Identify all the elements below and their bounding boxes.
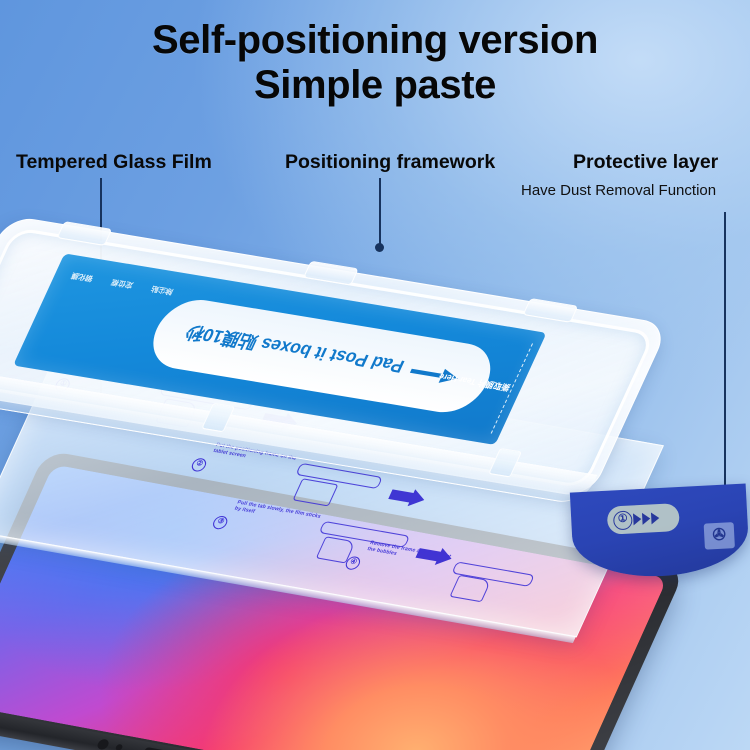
step-text-4: Remove the frame and press out the bubbl…	[366, 540, 456, 567]
dust-tab-number: ①	[613, 510, 633, 530]
callout-label-protective-layer: Protective layer	[573, 151, 718, 174]
step-text-3: Pull the tab slowly, the film sticks by …	[233, 499, 323, 526]
callout-subtitle-protective-layer: Have Dust Removal Function	[521, 182, 716, 199]
step-number-3: ③	[211, 515, 230, 530]
headline-line-1: Self-positioning version	[0, 18, 750, 63]
callout-label-tempered-glass-film: Tempered Glass Film	[16, 151, 212, 174]
headline-line-2: Simple paste	[0, 63, 750, 108]
tray-pill-text: Pad Post it boxes 贴膜10秒	[180, 321, 408, 382]
leader-dot-positioning-framework	[375, 243, 384, 252]
speaker-hole-icon	[96, 738, 111, 750]
tray-micro-text-1: 钢化膜	[70, 270, 95, 282]
tray-tear-text: 撕取膜片 Tear Here	[437, 371, 513, 394]
tray-micro-text-3: 除尘贴	[150, 283, 175, 295]
dust-tab-badge: ①	[607, 503, 680, 535]
chevron-right-icon	[633, 513, 642, 525]
chevron-right-icon	[651, 512, 660, 524]
headline-block: Self-positioning version Simple paste	[0, 18, 750, 108]
tray-micro-text-2: 定位框	[110, 277, 135, 289]
leader-line-positioning-framework	[379, 178, 381, 247]
callout-label-positioning-framework: Positioning framework	[285, 151, 495, 174]
leader-line-protective-layer	[724, 212, 726, 505]
dust-tab-logo-icon: ✇	[704, 522, 735, 550]
step-artwork-hand	[449, 575, 491, 603]
mic-hole-icon	[115, 744, 124, 750]
chevron-right-icon	[642, 512, 651, 524]
product-image-canvas: Self-positioning version Simple paste Te…	[0, 0, 750, 750]
